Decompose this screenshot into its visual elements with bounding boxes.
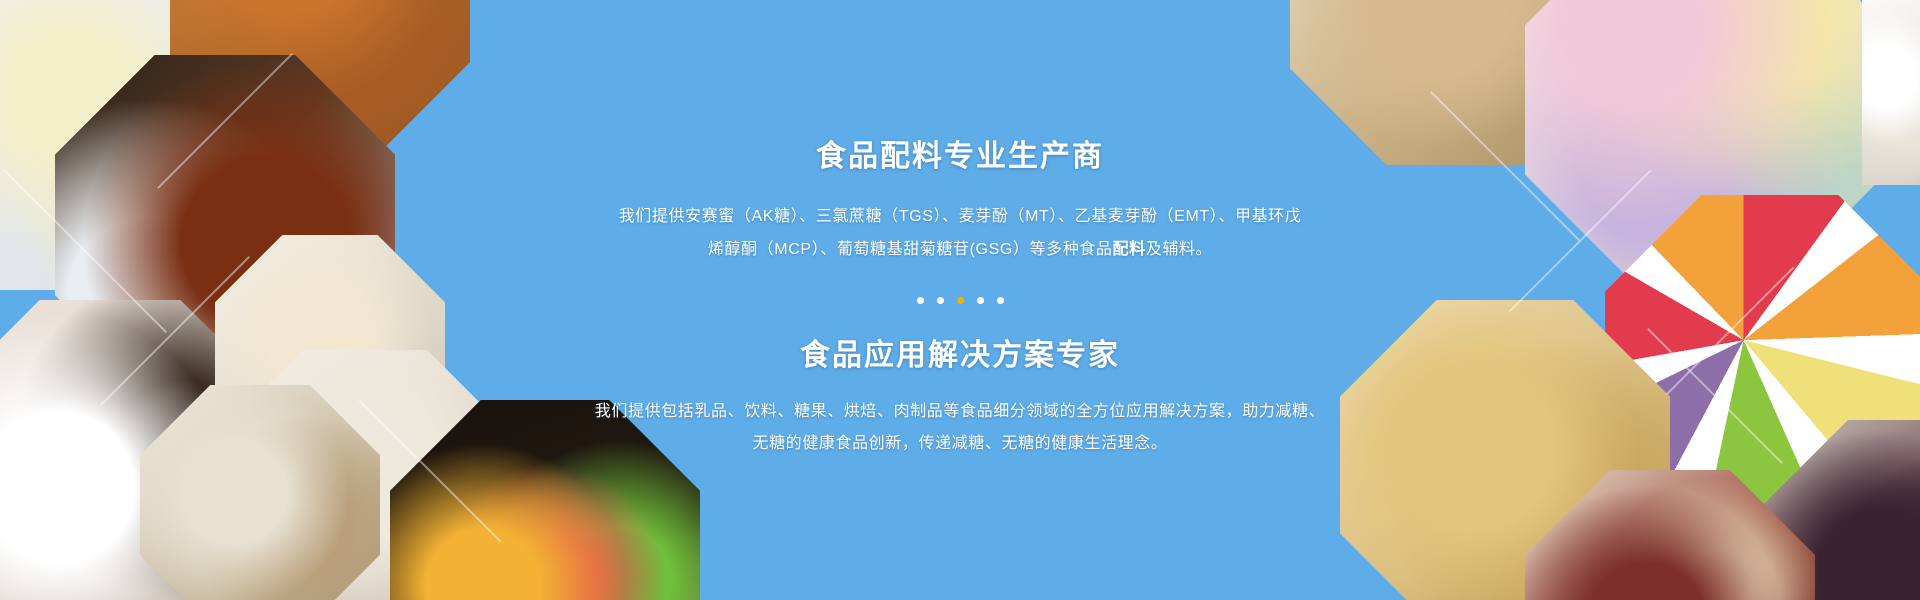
paragraph-producer-line2a: 烯醇酮（MCP）、葡萄糖基甜菊糖苷(GSG）等多种食品 bbox=[708, 241, 1113, 258]
separator-dot bbox=[937, 297, 944, 304]
cream-pitcher-photo bbox=[1862, 0, 1920, 185]
paragraph-solutions: 我们提供包括乳品、饮料、糖果、烘焙、肉制品等食品细分领域的全方位应用解决方案，助… bbox=[595, 396, 1325, 462]
separator-dot bbox=[917, 297, 924, 304]
heading-producer: 食品配料专业生产商 bbox=[619, 139, 1302, 175]
paragraph-solutions-line2: 无糖的健康食品创新，传递减糖、无糖的健康生活理念。 bbox=[752, 435, 1167, 452]
separator-dot bbox=[997, 297, 1004, 304]
paragraph-solutions-line1: 我们提供包括乳品、饮料、糖果、烘焙、肉制品等食品细分领域的全方位应用解决方案，助… bbox=[595, 403, 1325, 420]
paragraph-producer-emphasis: 配料 bbox=[1113, 241, 1146, 258]
paragraph-producer-line1: 我们提供安赛蜜（AK糖）、三氯蔗糖（TGS）、麦芽酚（MT）、乙基麦芽酚（EMT… bbox=[619, 208, 1302, 225]
paragraph-producer: 我们提供安赛蜜（AK糖）、三氯蔗糖（TGS）、麦芽酚（MT）、乙基麦芽酚（EMT… bbox=[619, 201, 1302, 267]
block-producer: 食品配料专业生产商 我们提供安赛蜜（AK糖）、三氯蔗糖（TGS）、麦芽酚（MT）… bbox=[619, 139, 1302, 267]
separator-dot-active bbox=[957, 297, 964, 304]
dot-separator bbox=[917, 297, 1004, 304]
separator-dot bbox=[977, 297, 984, 304]
banner-copy: 食品配料专业生产商 我们提供安赛蜜（AK糖）、三氯蔗糖（TGS）、麦芽酚（MT）… bbox=[510, 0, 1410, 600]
heading-solutions: 食品应用解决方案专家 bbox=[595, 338, 1325, 374]
block-solutions: 食品应用解决方案专家 我们提供包括乳品、饮料、糖果、烘焙、肉制品等食品细分领域的… bbox=[595, 338, 1325, 462]
hero-banner: 食品配料专业生产商 我们提供安赛蜜（AK糖）、三氯蔗糖（TGS）、麦芽酚（MT）… bbox=[0, 0, 1920, 600]
paragraph-producer-line2c: 及辅料。 bbox=[1146, 241, 1212, 258]
